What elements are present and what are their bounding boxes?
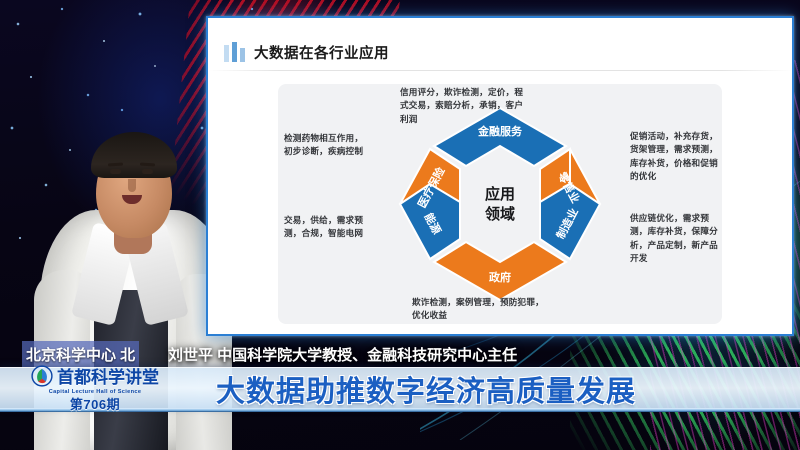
hex-label-government: 政府 — [489, 270, 511, 284]
callout-healthcare: 检测药物相互作用，初步诊断，疾病控制 — [284, 132, 366, 159]
logo-name-row: 首都科学讲堂 — [31, 363, 159, 388]
slide-header: 大数据在各行业应用 — [208, 38, 792, 66]
subtitle-highlight-text: 北京科学中心 北 — [26, 344, 135, 365]
callout-finance: 信用评分，欺诈检测，定价，程式交易，索赔分析，承销，客户利润 — [400, 86, 530, 126]
presenter-hair — [91, 132, 177, 178]
presenter-nose — [128, 179, 136, 192]
callout-government: 欺诈检测，案例管理，预防犯罪，优化收益 — [412, 296, 550, 323]
hexagon-wheel: 金融服务 零售业 制造业 政府 能源 医疗保险 应用 领域 — [394, 104, 606, 304]
slide-title: 大数据在各行业应用 — [254, 42, 389, 63]
bar-chart-icon — [224, 42, 245, 62]
program-logo: 首都科学讲堂 Capital Lecture Hall of Science 第… — [22, 364, 168, 412]
presenter-eye-left — [110, 169, 121, 174]
callout-retail: 促销活动，补充存货，货架管理，需求预测，库存补货，价格和促销的优化 — [630, 130, 718, 183]
presentation-slide-panel: 大数据在各行业应用 金融服务 零售业 制造业 — [206, 16, 794, 336]
slide-header-divider — [208, 70, 792, 71]
subtitle-rest-text: 刘世平 中国科学院大学教授、金融科技研究中心主任 — [168, 344, 517, 365]
hex-label-finance: 金融服务 — [477, 124, 523, 138]
logo-issue-number: 第706期 — [70, 394, 120, 413]
program-main-title: 大数据助推数字经济高质量发展 — [176, 369, 676, 409]
hex-center-label-line2: 领域 — [484, 205, 515, 223]
callout-energy: 交易，供给，需求预测，合规，智能电网 — [284, 214, 366, 241]
capital-lecture-hall-logo-icon — [31, 365, 53, 387]
callout-manufacturing: 供应链优化，需求预测，库存补货，保障分析，产品定制，新产品开发 — [630, 212, 720, 265]
presenter-eye-right — [142, 169, 153, 174]
application-domain-hexagon-diagram: 金融服务 零售业 制造业 政府 能源 医疗保险 应用 领域 信用评分，欺诈检测，… — [278, 84, 722, 324]
logo-name-cn: 首都科学讲堂 — [57, 363, 159, 388]
hex-center-label-line1: 应用 — [485, 185, 515, 203]
hexagon-svg: 金融服务 零售业 制造业 政府 能源 医疗保险 应用 领域 — [394, 104, 606, 304]
subtitle-rest-segment: 刘世平 中国科学院大学教授、金融科技研究中心主任 — [168, 341, 517, 367]
